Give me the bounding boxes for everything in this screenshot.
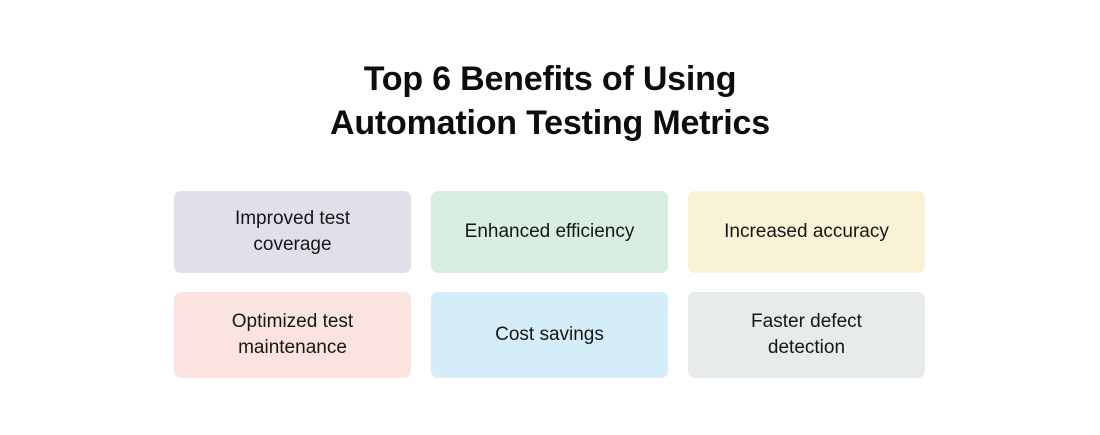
benefit-card-faster-defect-detection: Faster defect detection (688, 292, 925, 378)
page-title-line-1: Top 6 Benefits of Using (0, 57, 1100, 101)
benefit-card-cost-savings: Cost savings (431, 292, 668, 378)
benefit-card-label: Faster defect detection (751, 309, 862, 361)
page-title: Top 6 Benefits of Using Automation Testi… (0, 57, 1100, 145)
page-title-line-2: Automation Testing Metrics (0, 101, 1100, 145)
benefit-card-improved-test-coverage: Improved test coverage (174, 191, 411, 273)
benefit-card-label: Cost savings (495, 322, 604, 348)
benefit-card-label: Optimized test maintenance (232, 309, 353, 361)
benefit-card-enhanced-efficiency: Enhanced efficiency (431, 191, 668, 273)
benefits-card-grid: Improved test coverage Enhanced efficien… (174, 191, 926, 378)
benefit-card-label: Increased accuracy (724, 219, 889, 245)
benefit-card-increased-accuracy: Increased accuracy (688, 191, 925, 273)
benefit-card-label: Enhanced efficiency (465, 219, 635, 245)
benefit-card-optimized-test-maintenance: Optimized test maintenance (174, 292, 411, 378)
benefit-card-label: Improved test coverage (235, 206, 350, 258)
infographic-root: Top 6 Benefits of Using Automation Testi… (0, 0, 1100, 435)
